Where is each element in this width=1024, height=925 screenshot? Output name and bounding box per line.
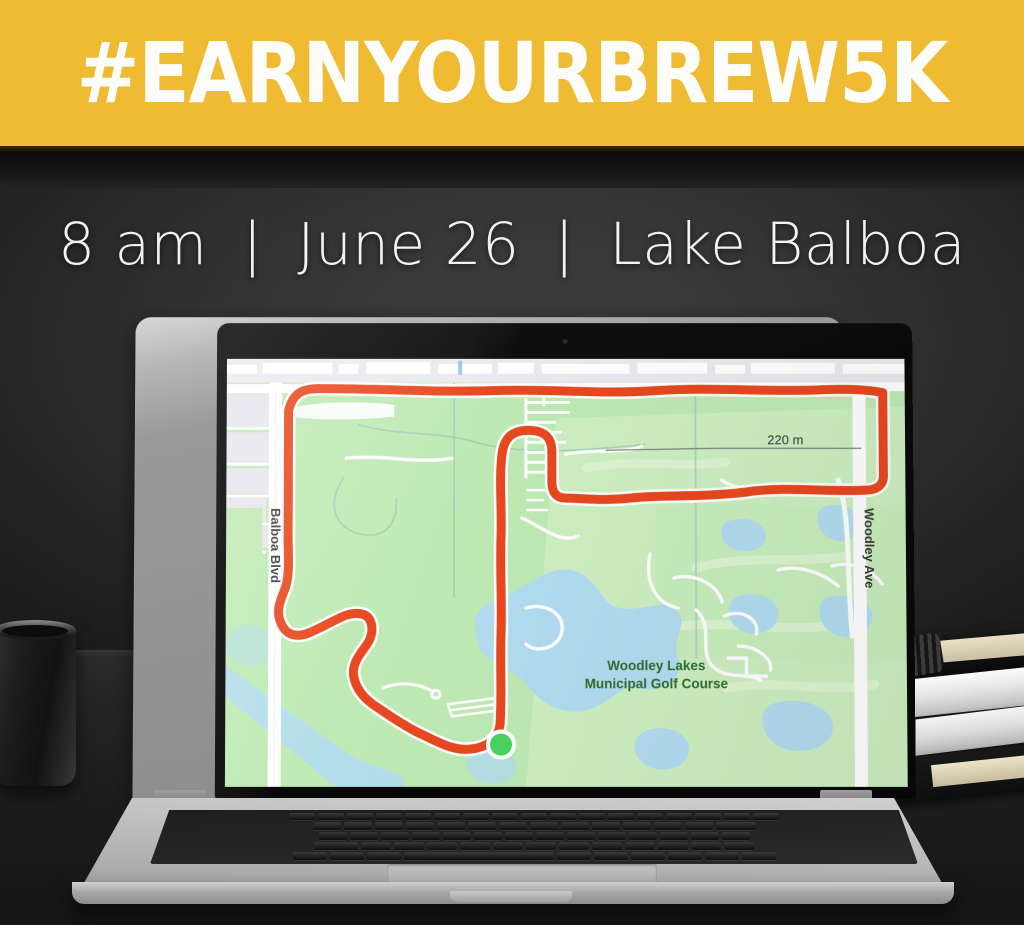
hashtag-text: #EARNYOURBREW5K <box>77 31 948 115</box>
keyboard-key[interactable] <box>722 832 750 840</box>
event-time: 8 am <box>58 210 207 278</box>
keyboard-key[interactable] <box>474 832 502 840</box>
keyboard-key[interactable] <box>608 813 634 820</box>
keyboard-key[interactable] <box>313 822 341 830</box>
woodley-ave-label: Woodley Ave <box>862 508 878 588</box>
keyboard-row[interactable] <box>150 822 918 830</box>
keyboard-key[interactable] <box>742 852 776 860</box>
keyboard-key[interactable] <box>468 822 496 830</box>
golf-course-label-line1: Woodley Lakes <box>607 658 705 673</box>
keyboard-key[interactable] <box>460 842 490 850</box>
keyboard-key[interactable] <box>623 822 651 830</box>
keyboard-key[interactable] <box>406 822 434 830</box>
keyboard-key[interactable] <box>567 832 595 840</box>
laptop: 220 m Balboa B <box>58 316 968 906</box>
keyboard-key[interactable] <box>404 852 554 860</box>
keyboard-key[interactable] <box>561 822 589 830</box>
keyboard-key[interactable] <box>658 842 688 850</box>
keyboard-key[interactable] <box>437 822 465 830</box>
keyboard-key[interactable] <box>492 813 518 820</box>
keyboard-key[interactable] <box>376 813 402 820</box>
keyboard-key[interactable] <box>319 832 347 840</box>
scale-bar-label: 220 m <box>767 432 803 447</box>
golf-course-label-line2: Municipal Golf Course <box>585 676 729 691</box>
keyboard-key[interactable] <box>499 822 527 830</box>
keyboard-key[interactable] <box>691 842 721 850</box>
event-date: June 26 <box>297 210 519 278</box>
laptop-lid: 220 m Balboa B <box>132 317 845 807</box>
hashtag-banner: #EARNYOURBREW5K <box>0 0 1024 146</box>
keyboard-key[interactable] <box>557 852 591 860</box>
keyboard-key[interactable] <box>318 813 344 820</box>
keyboard-key[interactable] <box>660 832 688 840</box>
poster-image: #EARNYOURBREW5K 8 am | June 26 | Lake Ba… <box>0 0 1024 925</box>
keyboard-key[interactable] <box>536 832 564 840</box>
keyboard-row[interactable] <box>150 842 918 850</box>
event-details-line: 8 am | June 26 | Lake Balboa <box>0 214 1024 275</box>
keyboard-key[interactable] <box>691 832 719 840</box>
keyboard-deck <box>80 798 946 890</box>
banner-drop-shadow <box>0 146 1024 152</box>
keyboard-key[interactable] <box>350 832 378 840</box>
keyboard-key[interactable] <box>344 822 372 830</box>
keyboard-key[interactable] <box>375 822 403 830</box>
keyboard-key[interactable] <box>724 813 750 820</box>
keyboard-key[interactable] <box>594 852 628 860</box>
keyboard-key[interactable] <box>394 842 424 850</box>
laptop-base <box>58 790 968 914</box>
keyboard-key[interactable] <box>521 813 547 820</box>
laptop-screen[interactable]: 220 m Balboa B <box>225 359 908 787</box>
keyboard-key[interactable] <box>427 842 457 850</box>
webcam-icon <box>563 339 568 344</box>
keyboard-key[interactable] <box>405 813 431 820</box>
keyboard-key[interactable] <box>666 813 692 820</box>
lid-release-notch <box>450 891 572 902</box>
keyboard-key[interactable] <box>668 852 702 860</box>
balboa-blvd-label: Balboa Blvd <box>268 508 283 583</box>
keyboard-key[interactable] <box>505 832 533 840</box>
keyboard-key[interactable] <box>724 842 754 850</box>
keyboard-row[interactable] <box>150 813 918 820</box>
keyboard-key[interactable] <box>493 842 523 850</box>
keyboard-row[interactable] <box>150 852 918 860</box>
keyboard-key[interactable] <box>637 813 663 820</box>
keyboard-key[interactable] <box>330 852 364 860</box>
keyboard-key[interactable] <box>598 832 626 840</box>
keyboard-key[interactable] <box>367 852 401 860</box>
event-separator-2: | <box>538 214 590 275</box>
keyboard-key[interactable] <box>381 832 409 840</box>
keyboard-key[interactable] <box>361 842 391 850</box>
route-map[interactable]: 220 m Balboa B <box>225 359 908 787</box>
keyboard[interactable] <box>150 810 918 864</box>
start-finish-marker <box>486 729 516 759</box>
keyboard-row[interactable] <box>150 832 918 840</box>
keyboard-key[interactable] <box>695 813 721 820</box>
keyboard-key[interactable] <box>293 852 327 860</box>
keyboard-key[interactable] <box>705 852 739 860</box>
keyboard-key[interactable] <box>434 813 460 820</box>
keyboard-key[interactable] <box>753 813 779 820</box>
keyboard-key[interactable] <box>631 852 665 860</box>
keyboard-key[interactable] <box>592 822 620 830</box>
keyboard-key[interactable] <box>654 822 682 830</box>
keyboard-key[interactable] <box>559 842 589 850</box>
event-location: Lake Balboa <box>609 210 965 278</box>
keyboard-key[interactable] <box>289 813 315 820</box>
keyboard-key[interactable] <box>314 842 358 850</box>
keyboard-key[interactable] <box>530 822 558 830</box>
keyboard-key[interactable] <box>347 813 373 820</box>
keyboard-key[interactable] <box>443 832 471 840</box>
keyboard-key[interactable] <box>685 822 713 830</box>
keyboard-key[interactable] <box>463 813 489 820</box>
keyboard-key[interactable] <box>625 842 655 850</box>
keyboard-key[interactable] <box>550 813 576 820</box>
keyboard-key[interactable] <box>579 813 605 820</box>
event-separator-1: | <box>226 214 278 275</box>
keyboard-key[interactable] <box>412 832 440 840</box>
keyboard-key[interactable] <box>526 842 556 850</box>
wall-shadow-band <box>0 146 1024 188</box>
keyboard-key[interactable] <box>592 842 622 850</box>
keyboard-key[interactable] <box>716 822 756 830</box>
keyboard-key[interactable] <box>629 832 657 840</box>
